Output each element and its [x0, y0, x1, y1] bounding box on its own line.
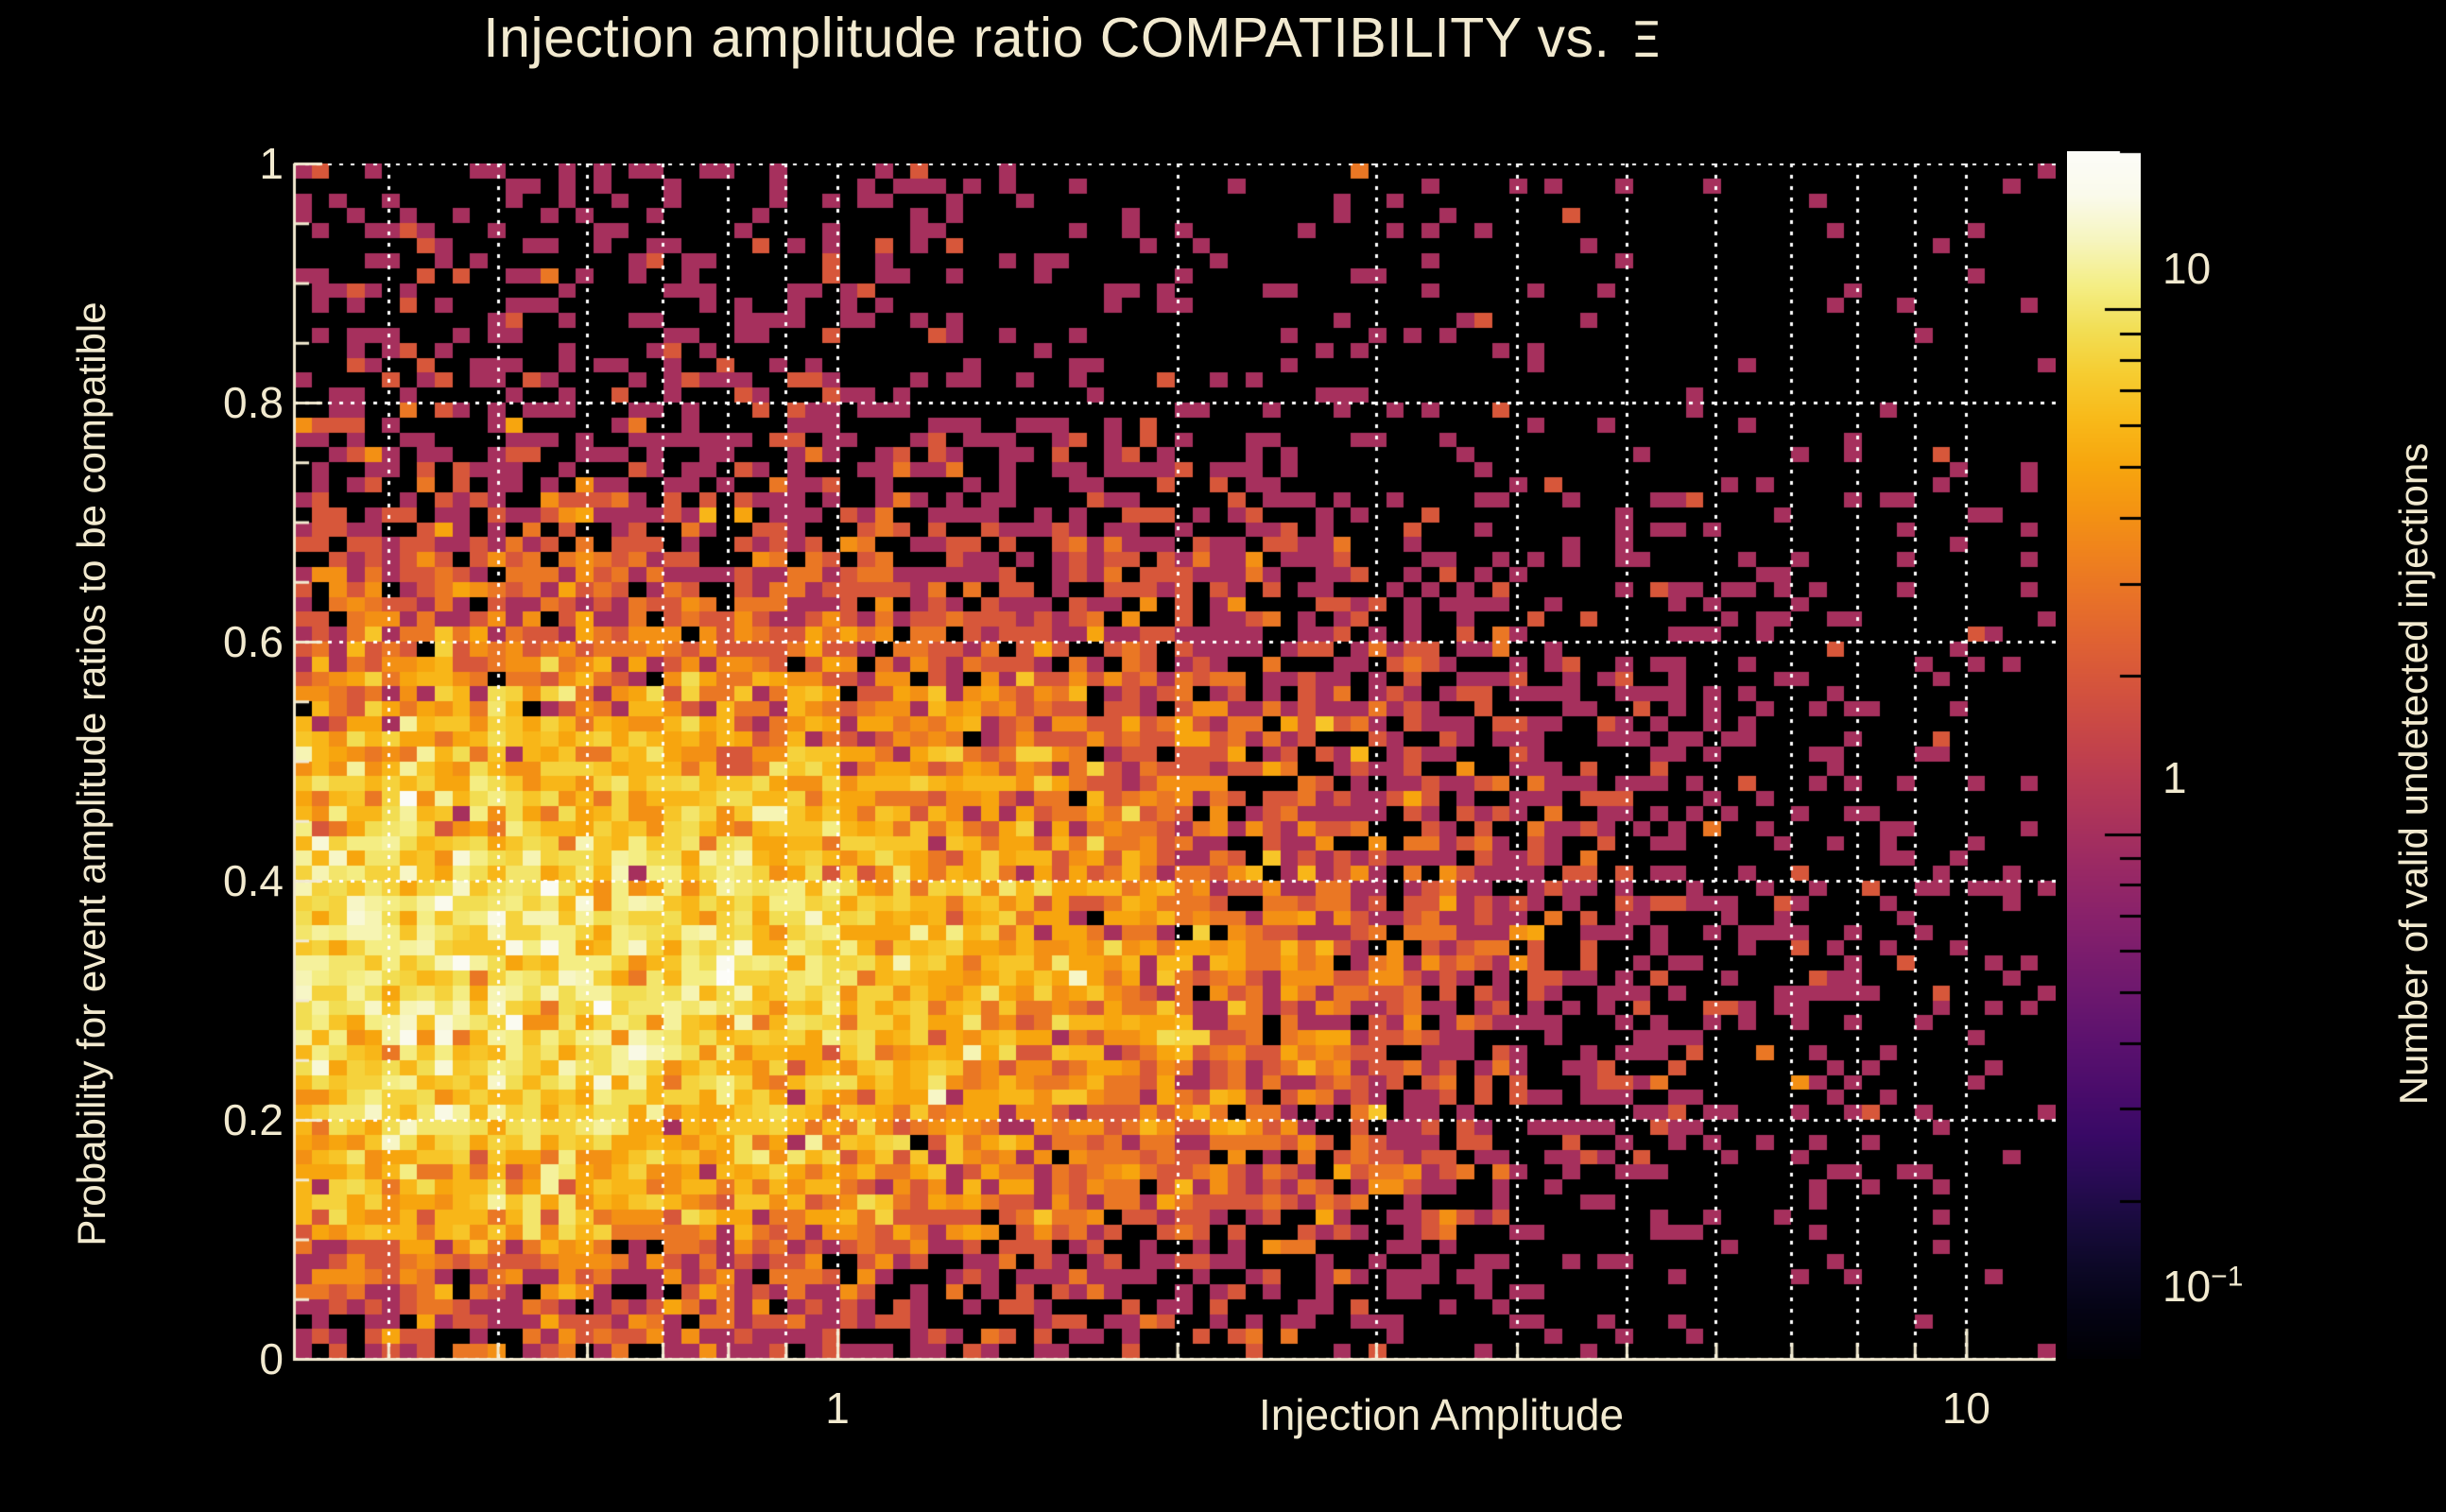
- heatmap-cells: [294, 163, 2056, 1359]
- xi-symbol: Ξ: [1610, 12, 1662, 69]
- y-tick-label: 0: [170, 1333, 284, 1384]
- colorbar-title: Number of valid undetected injections: [2391, 349, 2437, 1199]
- colorbar-tick-label: 10−1: [2162, 1261, 2243, 1312]
- colorbar-tick-label: 1: [2162, 752, 2187, 803]
- y-tick-label: 1: [170, 138, 284, 189]
- plot-canvas: Injection amplitude ratio COMPATIBILITY …: [0, 0, 2446, 1512]
- colorbar: [2067, 151, 2141, 1359]
- y-tick-label: 0.4: [170, 855, 284, 906]
- colorbar-gradient: [2067, 151, 2141, 1359]
- x-tick-label: 10: [1942, 1383, 1990, 1434]
- colorbar-tick-label: 10: [2162, 243, 2211, 294]
- y-axis-title: Probability for event amplitude ratios t…: [69, 207, 114, 1341]
- x-tick-label: 1: [825, 1383, 850, 1434]
- plot-title-text: Injection amplitude ratio COMPATIBILITY …: [483, 7, 1610, 69]
- heatmap-plot-area: [294, 163, 2056, 1359]
- y-tick-label: 0.6: [170, 616, 284, 667]
- y-axis-tick-labels: 00.20.40.60.81: [151, 0, 284, 1512]
- y-tick-label: 0.2: [170, 1094, 284, 1145]
- x-axis-title: Injection Amplitude: [1111, 1389, 1772, 1440]
- page-title: Injection amplitude ratio COMPATIBILITY …: [0, 6, 2145, 70]
- y-tick-label: 0.8: [170, 377, 284, 428]
